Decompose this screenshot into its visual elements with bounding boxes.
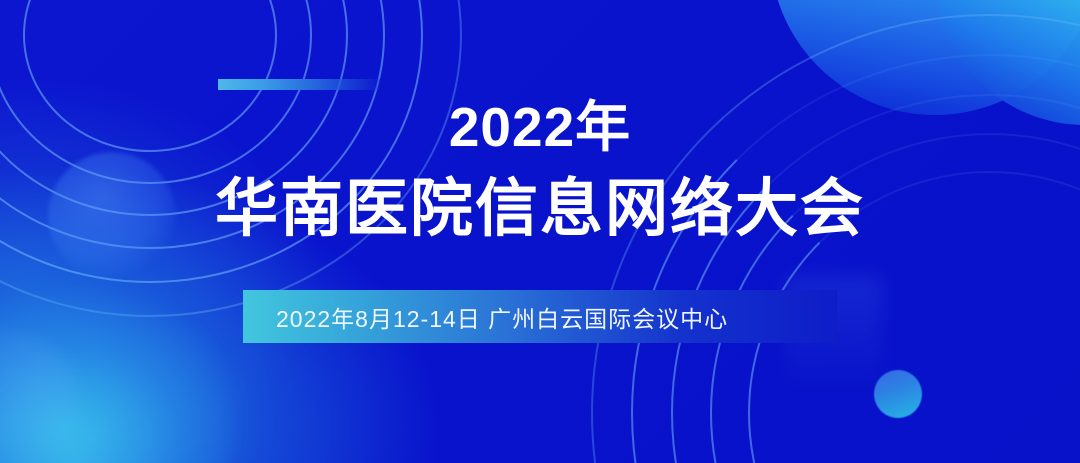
- subtitle-text: 2022年8月12-14日 广州白云国际会议中心: [243, 300, 728, 334]
- poster-content: 2022年 华南医院信息网络大会 2022年8月12-14日 广州白云国际会议中…: [0, 0, 1080, 463]
- conference-poster: 2022年 华南医院信息网络大会 2022年8月12-14日 广州白云国际会议中…: [0, 0, 1080, 463]
- title-accent-bar: [218, 79, 380, 90]
- poster-title-main: 华南医院信息网络大会: [0, 178, 1080, 241]
- subtitle-banner: 2022年8月12-14日 广州白云国际会议中心: [243, 290, 837, 343]
- poster-title-year: 2022年: [0, 100, 1080, 155]
